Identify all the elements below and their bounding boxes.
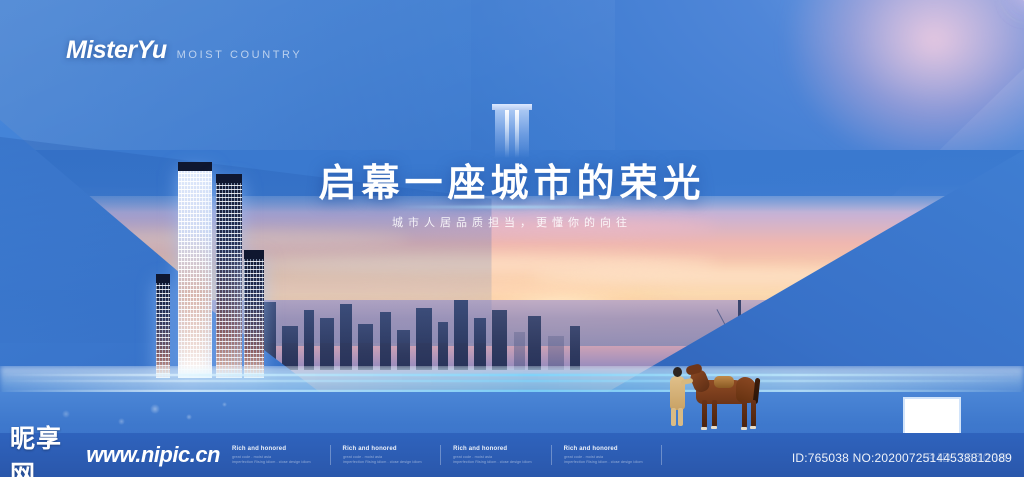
page-subtitle: 城市人居品质担当，更懂你的向往	[392, 214, 632, 230]
footer-column-title: Rich and honored	[232, 446, 318, 454]
site-watermark[interactable]: 昵享网 www.nipic.cn	[0, 419, 220, 477]
page-title: 启幕一座城市的荣光	[0, 164, 1024, 204]
footer-column-title: Rich and honored	[343, 446, 429, 454]
resource-id-text: ID:765038 NO:20200725144538812089	[792, 451, 1012, 465]
footer-divider	[661, 445, 662, 465]
cable-stayed-bridge	[704, 288, 874, 366]
watermark-cn-text: 昵享网	[10, 419, 80, 477]
headline-block: 启幕一座城市的荣光 城市人居品质担当，更懂你的向往	[0, 104, 1024, 231]
footer-column-line1: great code . moist asia	[453, 454, 532, 459]
footer-column: Rich and honored great code . moist asia…	[331, 446, 441, 464]
footer-column: Rich and honored great code . moist asia…	[552, 446, 662, 464]
footer-column-line2: imperfection Rising idiom . close design…	[564, 459, 643, 464]
subheadline-glow-line	[397, 206, 627, 208]
footer-column-title: Rich and honored	[564, 446, 650, 454]
footer-column: Rich and honored great code . moist asia…	[441, 446, 551, 464]
footer-column-line2: imperfection Rising idiom . close design…	[343, 459, 422, 464]
footer-column-line1: great code . moist asia	[343, 454, 422, 459]
horse-and-handler	[662, 362, 767, 434]
pillar-icon	[495, 104, 529, 158]
footer-column-line2: imperfection Rising idiom . close design…	[232, 459, 311, 464]
footer-column-title: Rich and honored	[453, 446, 539, 454]
subheadline-block: 城市人居品质担当，更懂你的向往	[392, 214, 632, 230]
brand-tagline: MOIST COUNTRY	[177, 49, 303, 61]
footer-column-line1: great code . moist asia	[232, 454, 311, 459]
footer-column-line1: great code . moist asia	[564, 454, 643, 459]
footer-column: Rich and honored great code . moist asia…	[220, 446, 330, 464]
watermark-url-text: www.nipic.cn	[86, 442, 220, 468]
poster-canvas: MisterYu MOIST COUNTRY 启幕一座城市的荣光 城市人居品质担…	[0, 0, 1024, 477]
brand-name: MisterYu	[66, 36, 167, 65]
brand-logo[interactable]: MisterYu MOIST COUNTRY	[66, 36, 302, 65]
footer-column-line2: imperfection Rising idiom . close design…	[453, 459, 532, 464]
